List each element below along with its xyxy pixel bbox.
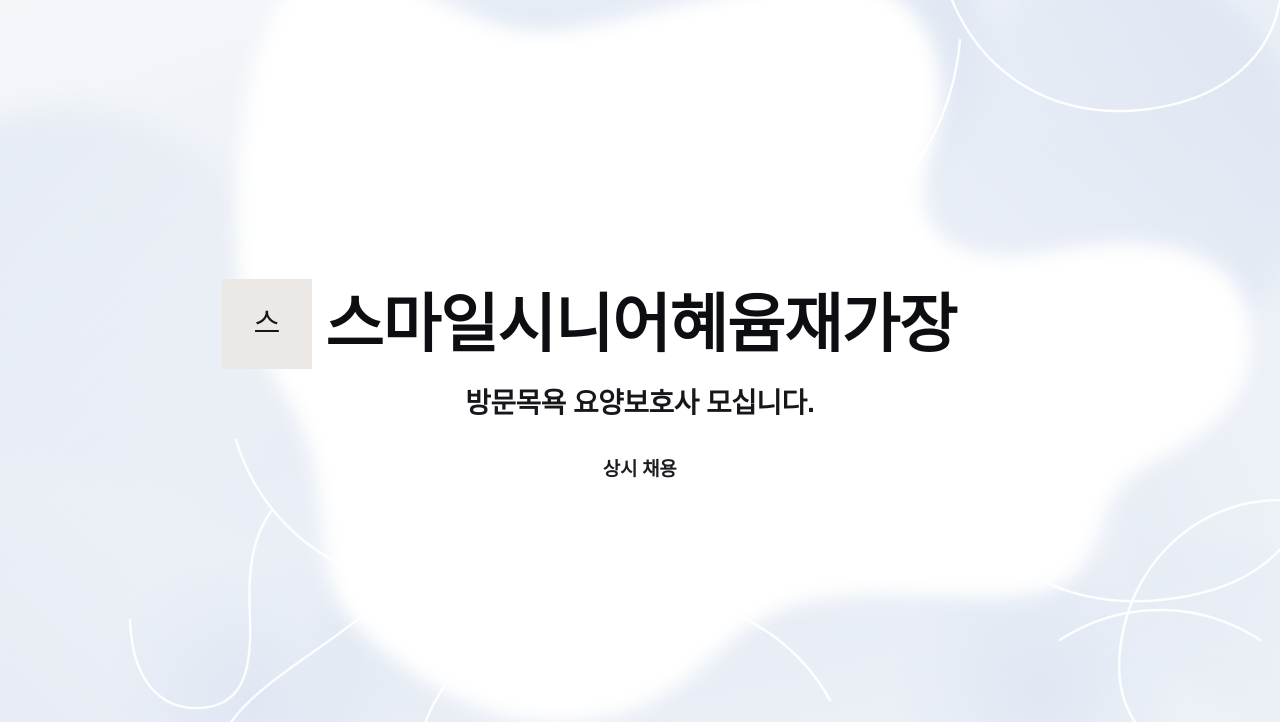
recruitment-status-badge: 상시 채용 xyxy=(0,459,1280,482)
job-posting-poster: 스 스마일시니어혜윰재가장 방문목욕 요양보호사 모십니다. 상시 채용 xyxy=(0,0,1280,722)
brand-row: 스 스마일시니어혜윰재가장 xyxy=(222,248,957,401)
poster-content: 스 스마일시니어혜윰재가장 방문목욕 요양보호사 모십니다. 상시 채용 xyxy=(0,0,1280,722)
avatar-initial-glyph: 스 xyxy=(254,310,281,339)
company-logo-avatar: 스 xyxy=(222,279,312,369)
job-headline: 방문목욕 요양보호사 모십니다. xyxy=(0,386,1280,420)
company-name-title: 스마일시니어혜윰재가장 xyxy=(326,291,957,358)
